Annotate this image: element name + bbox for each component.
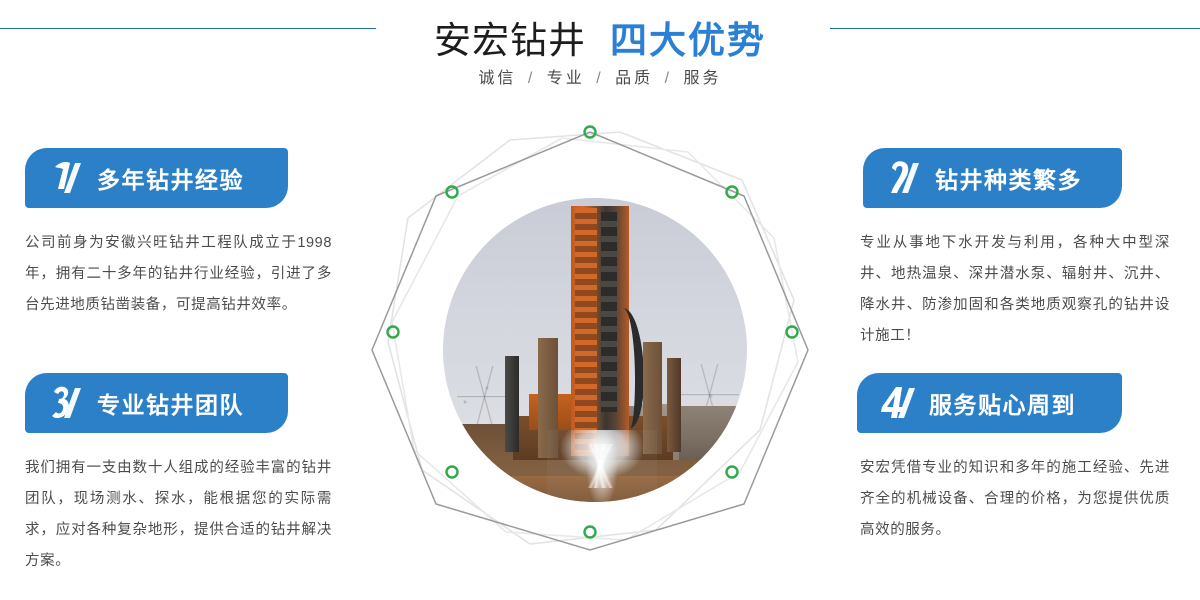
numeral-3-icon	[47, 381, 93, 425]
subtitle-separator-2: /	[665, 70, 672, 87]
feature-title-4: 服务贴心周到	[929, 386, 1076, 420]
feature-title-1: 多年钻井经验	[97, 161, 244, 195]
photo-piston-left	[505, 356, 519, 452]
feature-title-3: 专业钻井团队	[97, 386, 244, 420]
feature-badge-2[interactable]: 钻井种类繁多	[863, 148, 1122, 208]
subtitle-separator-0: /	[528, 70, 535, 87]
feature-badge-3[interactable]: 专业钻井团队	[25, 373, 288, 433]
feature-text-1: 公司前身为安徽兴旺钻井工程队成立于1998年，拥有二十多年的钻井行业经验，引进了…	[25, 228, 332, 321]
feature-text-4: 安宏凭借专业的知识和多年的施工经验、先进齐全的机械设备、合理的价格，为您提供优质…	[860, 453, 1170, 546]
subtitle-separator-1: /	[596, 70, 603, 87]
banner-header: 安宏钻井四大优势 诚信 / 专业 / 品质 / 服务	[0, 0, 1200, 110]
subtitle-item-3: 服务	[684, 70, 722, 87]
numeral-4-icon	[879, 381, 925, 425]
feature-text-3: 我们拥有一支由数十人组成的经验丰富的钻井团队，现场测水、探水，能根据您的实际需求…	[25, 453, 332, 577]
vertex-dot-top-left	[447, 187, 458, 198]
subtitle-item-2: 品质	[615, 70, 653, 87]
promo-banner: 安宏钻井四大优势 诚信 / 专业 / 品质 / 服务 多年钻井经验 公司前身为安…	[0, 0, 1200, 600]
numeral-2-icon	[885, 156, 931, 200]
photo-piston-right	[667, 358, 681, 452]
numeral-1-icon	[47, 156, 93, 200]
subtitle-list: 诚信 / 专业 / 品质 / 服务	[0, 64, 1200, 88]
feature-badge-4[interactable]: 服务贴心周到	[857, 373, 1122, 433]
center-graphic	[370, 110, 810, 572]
vertex-dot-bottom	[585, 527, 596, 538]
subtitle-item-1: 专业	[547, 70, 585, 87]
subtitle-item-0: 诚信	[478, 70, 516, 87]
photo-water-splash	[535, 444, 669, 488]
page-title: 安宏钻井四大优势	[0, 10, 1200, 64]
photo-rig-ladder	[575, 208, 597, 452]
feature-badge-1[interactable]: 多年钻井经验	[25, 148, 288, 208]
title-accent-text: 四大优势	[610, 20, 766, 61]
feature-title-2: 钻井种类繁多	[935, 161, 1082, 195]
title-main-text: 安宏钻井	[434, 20, 586, 61]
drilling-rig-photo	[443, 198, 747, 502]
feature-text-2: 专业从事地下水开发与利用，各种大中型深井、地热温泉、深井潜水泵、辐射井、沉井、降…	[860, 228, 1170, 352]
